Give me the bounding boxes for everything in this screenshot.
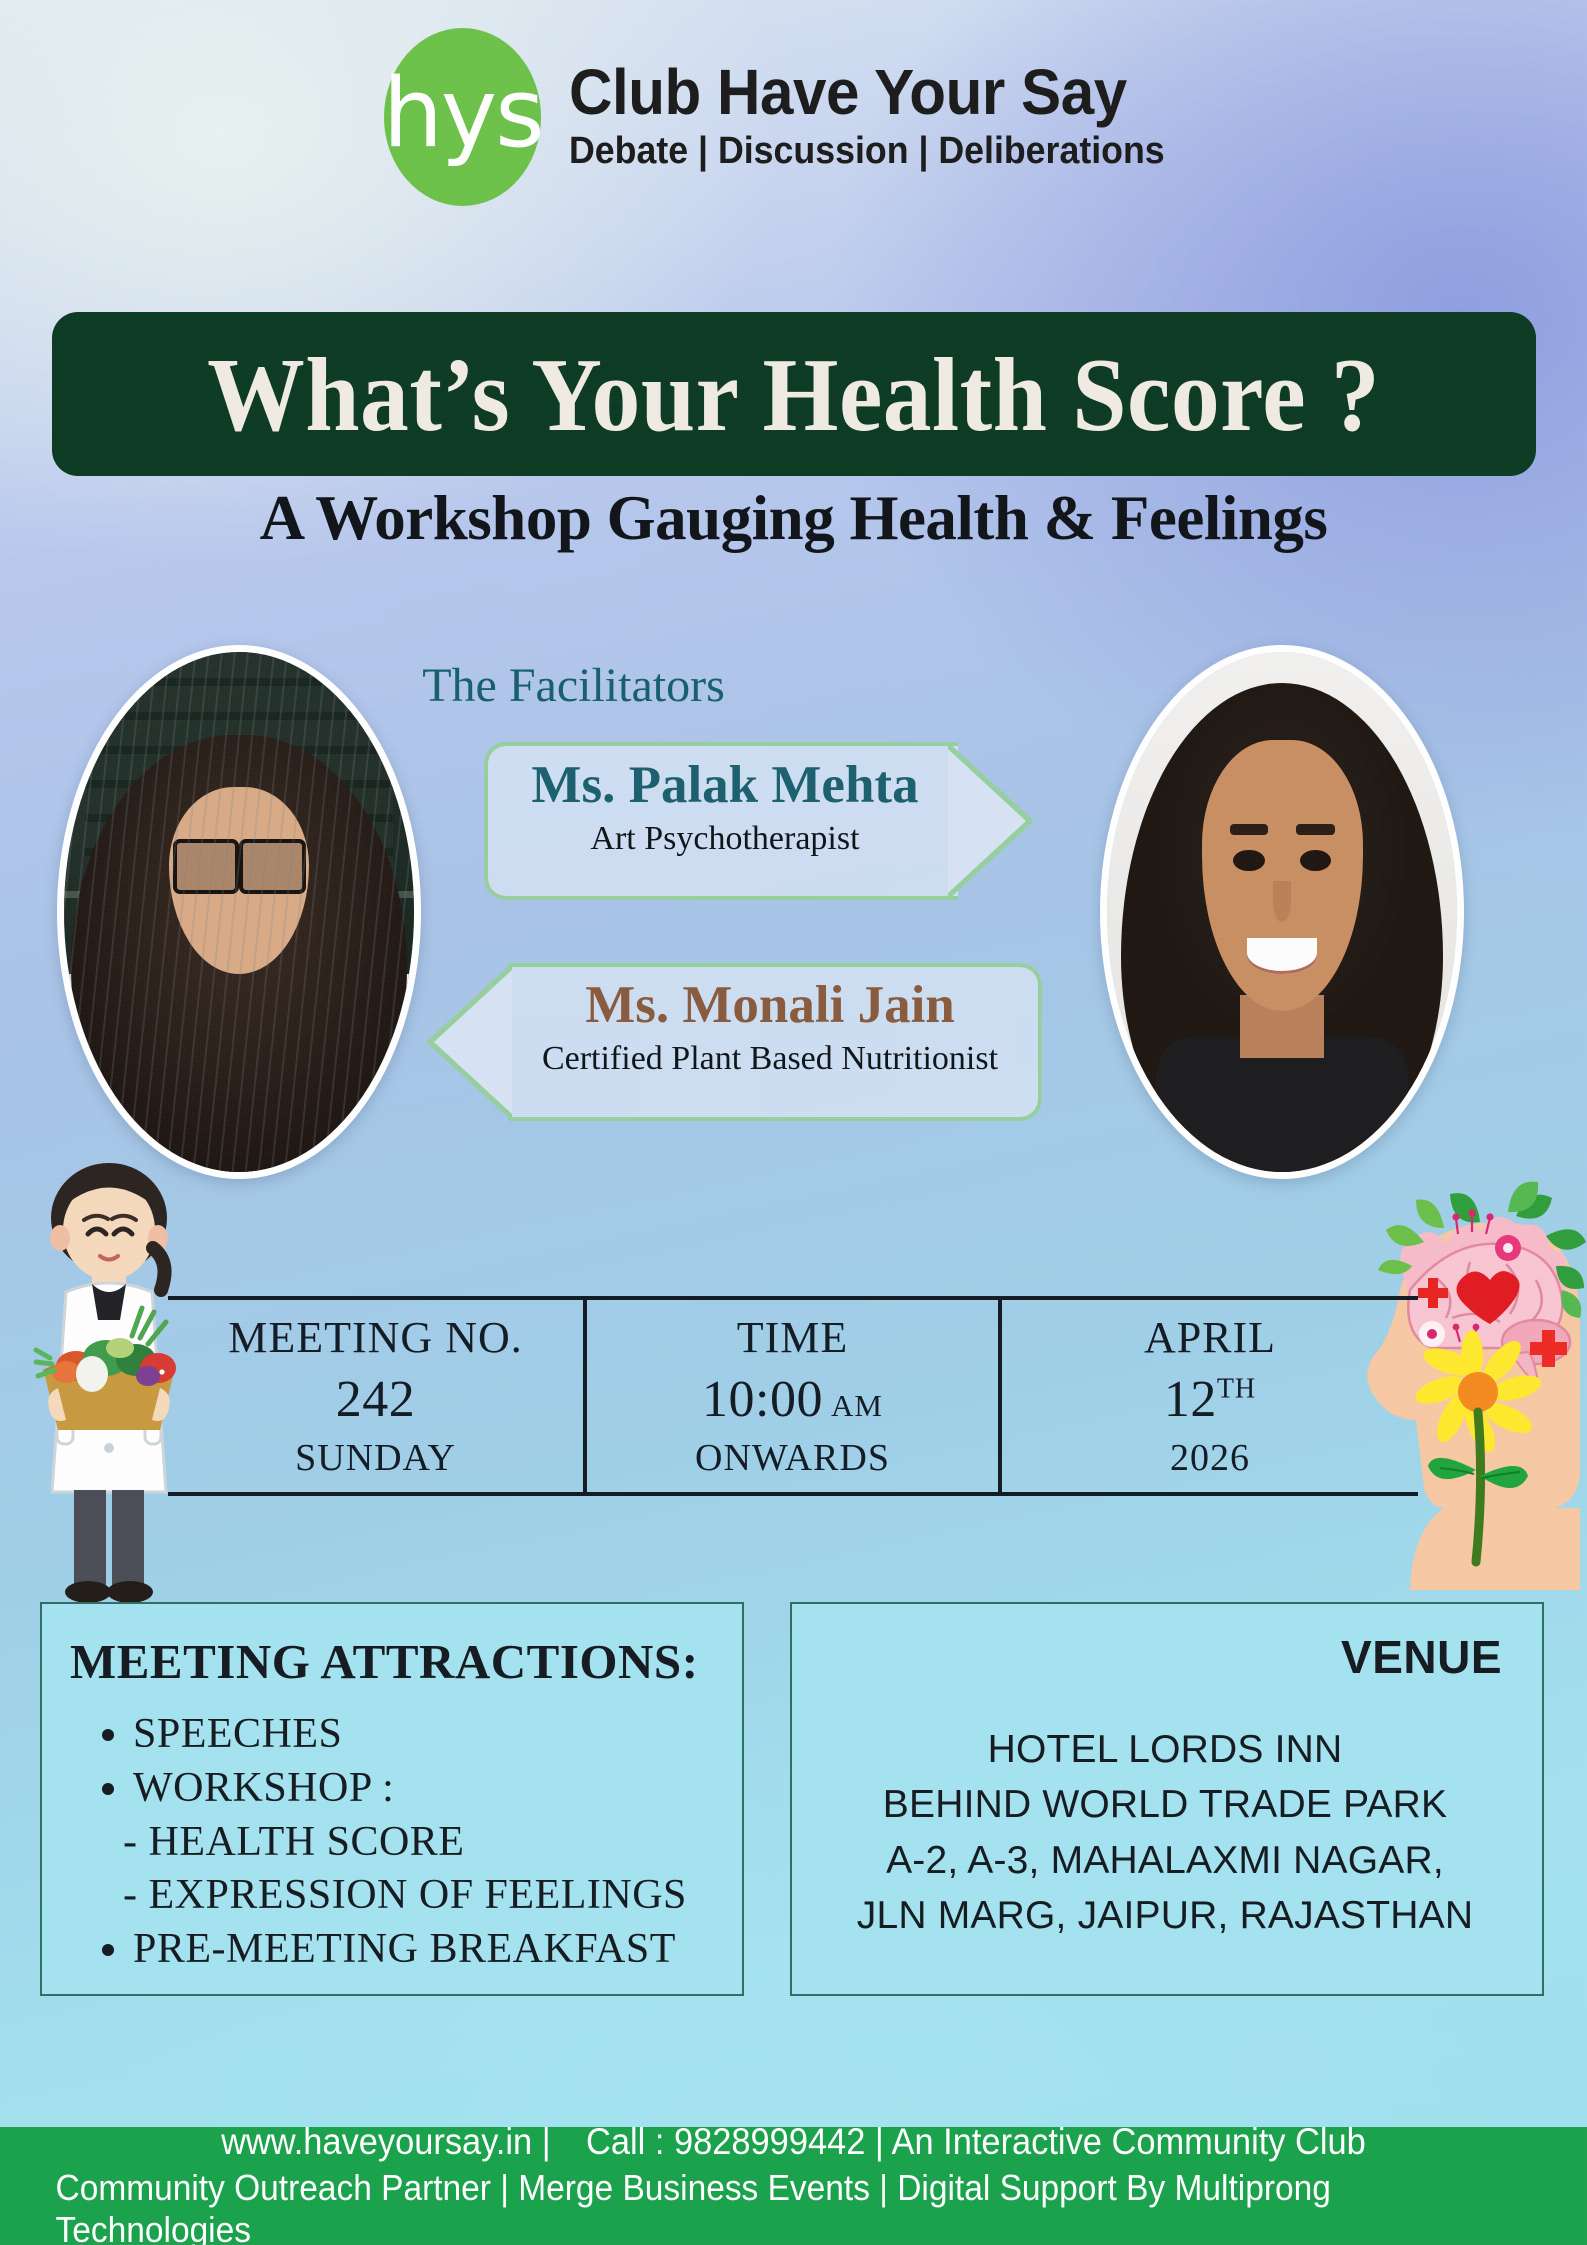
venue-address-line: BEHIND WORLD TRADE PARK <box>790 1777 1540 1832</box>
venue-address-line: A-2, A-3, MAHALAXMI NAGAR, <box>790 1833 1540 1888</box>
venue-address-line: HOTEL LORDS INN <box>790 1722 1540 1777</box>
hys-logo-icon: hys <box>384 28 541 206</box>
brand-title: Club Have Your Say <box>569 59 1165 126</box>
photo-left-graphic <box>64 652 414 1172</box>
attractions-item: WORKSHOP : <box>133 1762 753 1816</box>
info-cell-date: APRIL 12TH 2026 <box>1002 1300 1418 1492</box>
footer-phone[interactable]: Call : 9828999442 <box>586 2121 865 2162</box>
brand-subtitle: Debate | Discussion | Deliberations <box>569 128 1165 176</box>
info-cell-2-header: TIME <box>737 1312 849 1363</box>
facilitator-2-text: Ms. Monali Jain Certified Plant Based Nu… <box>510 975 1030 1078</box>
facilitator-2-name: Ms. Monali Jain <box>510 975 1030 1036</box>
info-cell-3-value-row: 12TH <box>1164 1370 1256 1429</box>
footer-website[interactable]: www.haveyoursay.in | <box>221 2121 551 2162</box>
hero-subtitle: A Workshop Gauging Health & Feelings <box>0 482 1587 555</box>
facilitator-2-role: Certified Plant Based Nutritionist <box>510 1040 1030 1078</box>
attractions-list: SPEECHES WORKSHOP : - HEALTH SCORE - EXP… <box>95 1708 753 1977</box>
facilitators-label-text: The Facilitators <box>422 659 725 712</box>
brand-header: hys Club Have Your Say Debate | Discussi… <box>0 28 1587 206</box>
venue-title: VENUE <box>790 1630 1540 1684</box>
info-divider-bottom <box>168 1492 1418 1496</box>
facilitator-plate-2-arrow <box>426 963 512 1121</box>
facilitator-1-role: Art Psychotherapist <box>500 820 950 858</box>
info-cell-3-header: APRIL <box>1144 1312 1276 1363</box>
meeting-info-table: MEETING NO. 242 SUNDAY TIME 10:00AM ONWA… <box>168 1296 1418 1496</box>
facilitator-1-text: Ms. Palak Mehta Art Psychotherapist <box>500 755 950 858</box>
photo-right-graphic <box>1107 652 1457 1172</box>
info-cell-meeting-no: MEETING NO. 242 SUNDAY <box>168 1300 583 1492</box>
attractions-item: PRE-MEETING BREAKFAST <box>133 1923 753 1977</box>
facilitator-1-name: Ms. Palak Mehta <box>500 755 950 816</box>
attractions-item: SPEECHES <box>133 1708 753 1762</box>
info-cell-1-footer: SUNDAY <box>295 1436 456 1480</box>
brand-textblock: Club Have Your Say Debate | Discussion |… <box>547 59 1203 176</box>
venue-address-line: JLN MARG, JAIPUR, RAJASTHAN <box>790 1888 1540 1943</box>
attractions-subitem: - EXPRESSION OF FEELINGS <box>123 1869 753 1923</box>
info-cell-2-suffix: AM <box>831 1388 883 1423</box>
info-cell-2-footer: ONWARDS <box>695 1436 890 1480</box>
info-cell-1-value: 242 <box>336 1370 416 1429</box>
info-cell-1-header: MEETING NO. <box>228 1312 523 1363</box>
logo-text: hys <box>383 72 543 158</box>
facilitator-plate-1-arrow <box>948 742 1034 900</box>
info-cell-3-value: 12 <box>1164 1371 1217 1428</box>
hero-title-banner: What’s Your Health Score ? <box>52 312 1536 476</box>
info-cell-3-footer: 2026 <box>1170 1436 1250 1480</box>
facilitator-photo-left <box>57 645 421 1179</box>
info-cell-2-value: 10:00 <box>702 1371 823 1428</box>
info-cell-2-value-row: 10:00AM <box>702 1370 883 1429</box>
attractions-title: MEETING ATTRACTIONS: <box>70 1633 699 1690</box>
footer-partners: Community Outreach Partner | Merge Busin… <box>56 2167 1532 2245</box>
facilitator-photo-right <box>1100 645 1464 1179</box>
info-cell-time: TIME 10:00AM ONWARDS <box>587 1300 998 1492</box>
footer-tagline: | An Interactive Community Club <box>875 2121 1366 2162</box>
info-cell-3-suffix: TH <box>1217 1374 1256 1405</box>
footer-line-1: www.haveyoursay.in |Call : 9828999442 | … <box>221 2121 1366 2163</box>
attractions-subitem: - HEALTH SCORE <box>123 1816 753 1870</box>
venue-address: HOTEL LORDS INN BEHIND WORLD TRADE PARK … <box>790 1722 1540 1944</box>
poster-canvas: hys Club Have Your Say Debate | Discussi… <box>0 0 1587 2245</box>
hero-title: What’s Your Health Score ? <box>207 334 1380 455</box>
footer-bar: www.haveyoursay.in |Call : 9828999442 | … <box>0 2127 1587 2245</box>
